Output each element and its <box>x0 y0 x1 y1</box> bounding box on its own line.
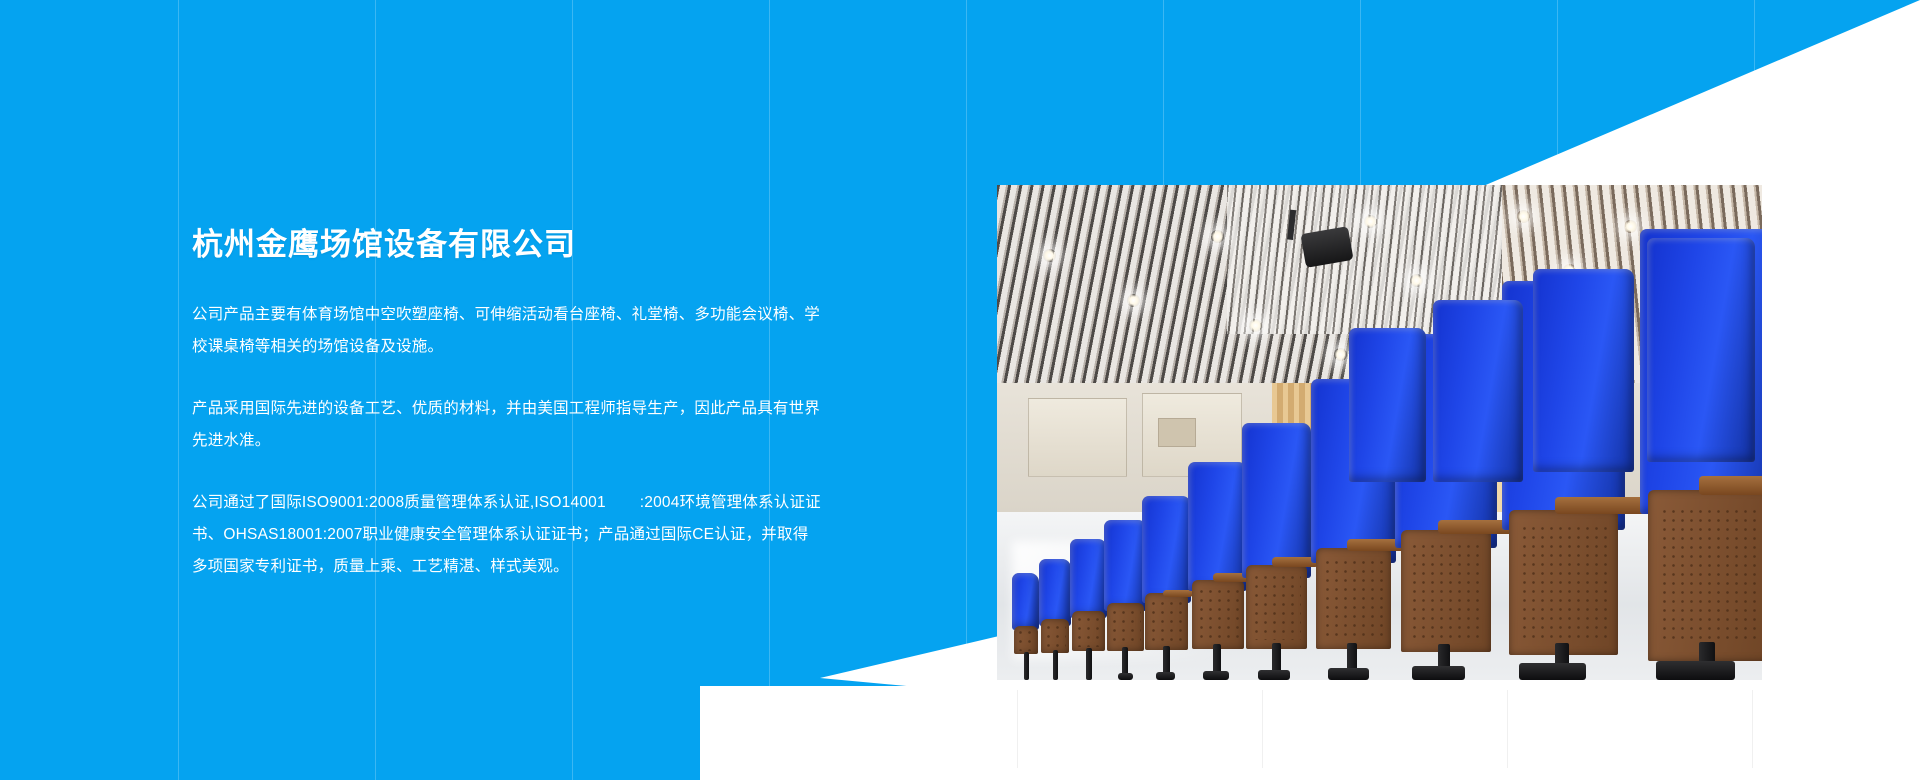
ceiling-light <box>1211 230 1224 243</box>
paragraph-certifications: 公司通过了国际ISO9001:2008质量管理体系认证,ISO14001:200… <box>192 487 822 583</box>
page-title: 杭州金鹰场馆设备有限公司 <box>192 225 822 265</box>
certifications-text-part1: 公司通过了国际ISO9001:2008质量管理体系认证,ISO14001 <box>192 494 606 511</box>
hero-banner: 杭州金鹰场馆设备有限公司 公司产品主要有体育场馆中空吹塑座椅、可伸缩活动看台座椅… <box>0 0 1920 780</box>
white-bottom-block <box>700 686 1920 780</box>
auditorium-photo <box>997 185 1762 680</box>
paragraph-products: 公司产品主要有体育场馆中空吹塑座椅、可伸缩活动看台座椅、礼堂椅、多功能会议椅、学… <box>192 299 822 363</box>
wall-panel <box>1158 418 1196 448</box>
auditorium-seat-background <box>1533 225 1663 473</box>
bottom-grid-line <box>1507 690 1508 768</box>
paragraph-quality: 产品采用国际先进的设备工艺、优质的材料，并由美国工程师指导生产，因此产品具有世界… <box>192 393 822 457</box>
ceiling-light <box>1334 348 1347 361</box>
auditorium-seat-background <box>1433 254 1548 482</box>
ceiling-light <box>1364 215 1377 228</box>
wall-panel <box>1028 398 1127 477</box>
bottom-grid-line <box>1017 690 1018 768</box>
ceiling-light <box>1127 294 1140 307</box>
hero-copy-block: 杭州金鹰场馆设备有限公司 公司产品主要有体育场馆中空吹塑座椅、可伸缩活动看台座椅… <box>192 225 822 583</box>
auditorium-seat-background <box>1647 195 1762 462</box>
ceiling-light <box>1517 210 1530 223</box>
bottom-grid-line <box>1262 690 1263 768</box>
auditorium-photo-scene <box>997 185 1762 680</box>
bottom-grid-line <box>1752 690 1753 768</box>
